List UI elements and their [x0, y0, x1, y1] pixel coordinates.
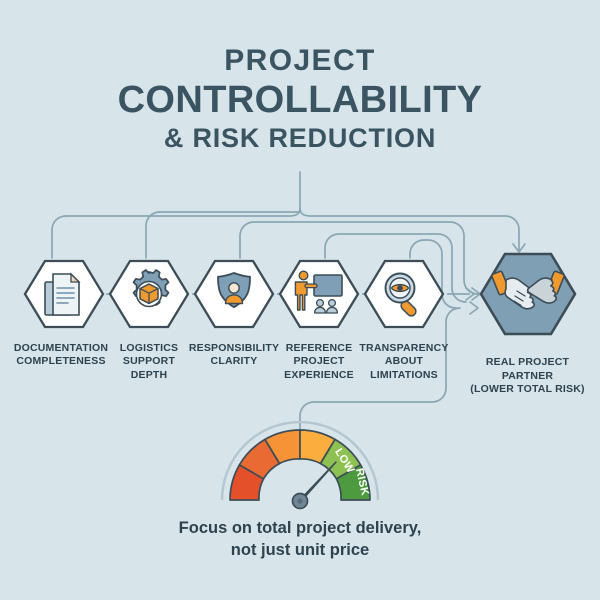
infographic-canvas: PROJECT CONTROLLABILITY & RISK REDUCTION [0, 0, 600, 600]
gauge-needle [293, 462, 337, 509]
caption-text: Focus on total project delivery, not jus… [60, 518, 540, 562]
risk-gauge-icon [0, 0, 600, 600]
